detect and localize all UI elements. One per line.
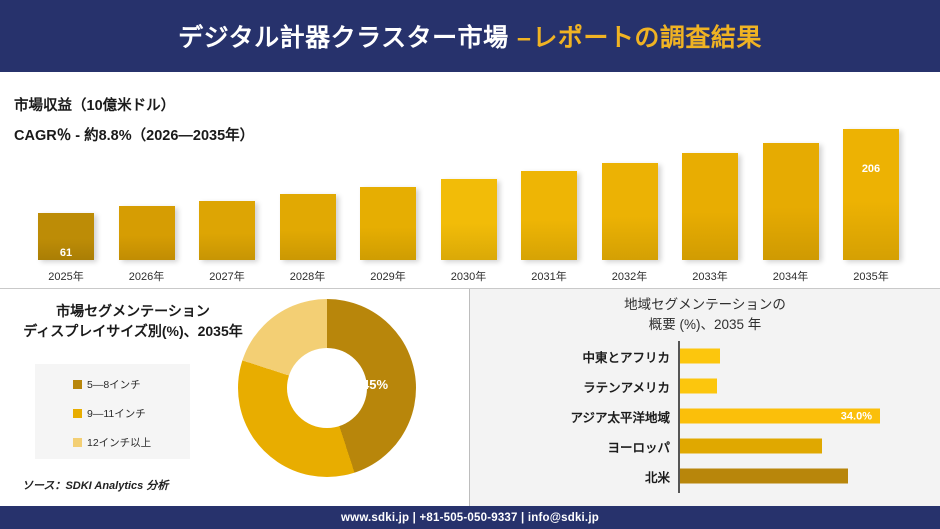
region-panel: 地域セグメンテーションの 概要 (%)、2035 年 中東とアフリカラテンアメリ… [470, 289, 940, 506]
region-bar-row: アジア太平洋地域34.0% [470, 401, 940, 431]
revenue-bars-area: 612025年2026年2027年2028年2029年2030年2031年203… [30, 100, 916, 288]
region-title: 地域セグメンテーションの 概要 (%)、2035 年 [470, 295, 940, 336]
segmentation-title: 市場セグメンテーション ディスプレイサイズ別(%)、2035年 [8, 301, 258, 342]
region-title-line2: 概要 (%)、2035 年 [470, 315, 940, 335]
page-title: デジタル計器クラスター市場 –レポートの調査結果 [178, 18, 762, 54]
segmentation-legend: 5―8インチ9―11インチ12インチ以上 [35, 364, 190, 459]
revenue-bar [280, 194, 336, 260]
revenue-bar-column: 612025年 [30, 100, 102, 288]
revenue-bar-xlabel: 2029年 [346, 268, 430, 284]
region-bar-chart: 中東とアフリカラテンアメリカアジア太平洋地域34.0%ヨーロッパ北米 [470, 341, 940, 499]
revenue-bar-column: 2033年 [674, 100, 746, 288]
region-bar-fill [680, 469, 848, 484]
legend-swatch-icon [73, 438, 82, 447]
revenue-bar [521, 171, 577, 260]
revenue-bar-xlabel: 2028年 [266, 268, 350, 284]
bottom-section: 市場セグメンテーション ディスプレイサイズ別(%)、2035年 5―8インチ9―… [0, 288, 940, 506]
revenue-bar-plot [674, 100, 746, 260]
revenue-bar-chart-panel: 市場収益（10億米ドル） CAGR％ - 約8.8%（2026―2035年） 6… [0, 72, 940, 288]
source-note: ソース：SDKI Analytics 分析 [22, 477, 168, 493]
region-bar-row: 中東とアフリカ [470, 341, 940, 371]
revenue-bar-xlabel: 2031年 [507, 268, 591, 284]
revenue-bar-column: 2062035年 [835, 100, 907, 288]
footer-contact-text: www.sdki.jp | +81-505-050-9337 | info@sd… [341, 512, 599, 524]
revenue-bar-xlabel: 2035年 [829, 268, 913, 284]
revenue-bar-column: 2030年 [433, 100, 505, 288]
region-bar-fill: 34.0% [680, 409, 880, 424]
region-bar-label: ラテンアメリカ [470, 377, 670, 396]
region-bar-track [680, 469, 848, 484]
revenue-bar: 61 [38, 213, 94, 260]
region-bar-track [680, 439, 822, 454]
revenue-bar [199, 201, 255, 260]
revenue-bar [360, 187, 416, 260]
legend-item-label: 9―11インチ [87, 406, 146, 421]
revenue-bar-plot: 61 [30, 100, 102, 260]
revenue-bar-plot [352, 100, 424, 260]
region-title-line1: 地域セグメンテーションの [470, 295, 940, 315]
region-bar-row: ヨーロッパ [470, 431, 940, 461]
revenue-bar-xlabel: 2026年 [105, 268, 189, 284]
revenue-bar [119, 206, 175, 260]
revenue-bar-column: 2027年 [191, 100, 263, 288]
legend-swatch-icon [73, 409, 82, 418]
revenue-bar: 206 [843, 129, 899, 260]
segmentation-panel: 市場セグメンテーション ディスプレイサイズ別(%)、2035年 5―8インチ9―… [0, 289, 470, 506]
revenue-bar-column: 2032年 [594, 100, 666, 288]
revenue-bar-plot [433, 100, 505, 260]
revenue-bar-value: 61 [38, 247, 94, 259]
region-bar-row: 北米 [470, 461, 940, 491]
revenue-bar-xlabel: 2033年 [668, 268, 752, 284]
revenue-bar [602, 163, 658, 260]
revenue-bar-xlabel: 2025年 [24, 268, 108, 284]
region-bar-fill [680, 379, 717, 394]
revenue-bar-column: 2031年 [513, 100, 585, 288]
revenue-bar-xlabel: 2034年 [749, 268, 833, 284]
revenue-bar-xlabel: 2027年 [185, 268, 269, 284]
legend-item: 5―8インチ [35, 370, 190, 399]
region-bar-row: ラテンアメリカ [470, 371, 940, 401]
region-bar-track [680, 379, 717, 394]
revenue-bar-plot: 206 [835, 100, 907, 260]
segmentation-title-line2: ディスプレイサイズ別(%)、2035年 [8, 321, 258, 341]
revenue-bar-plot [272, 100, 344, 260]
region-bar-track: 34.0% [680, 409, 880, 424]
segmentation-donut-chart: 45% [238, 299, 416, 477]
donut-hole [287, 348, 367, 428]
revenue-bar-plot [111, 100, 183, 260]
revenue-bar [441, 179, 497, 260]
revenue-bar [682, 153, 738, 260]
revenue-bar-column: 2026年 [111, 100, 183, 288]
region-bar-label: アジア太平洋地域 [470, 407, 670, 426]
region-bar-fill [680, 439, 822, 454]
legend-item-label: 5―8インチ [87, 377, 141, 392]
region-bar-value: 34.0% [841, 410, 872, 422]
region-bar-fill [680, 349, 720, 364]
legend-item: 12インチ以上 [35, 428, 190, 457]
page-header: デジタル計器クラスター市場 –レポートの調査結果 [0, 0, 940, 72]
page-title-accent: レポートの調査結果 [532, 24, 762, 52]
page-title-dash: – [516, 24, 532, 52]
revenue-bar-column: 2034年 [755, 100, 827, 288]
revenue-bar-plot [513, 100, 585, 260]
legend-item: 9―11インチ [35, 399, 190, 428]
donut-value-label: 45% [362, 377, 388, 392]
revenue-bar-plot [755, 100, 827, 260]
region-bar-label: 中東とアフリカ [470, 347, 670, 366]
segmentation-title-line1: 市場セグメンテーション [8, 301, 258, 321]
region-bar-track [680, 349, 720, 364]
region-bar-label: ヨーロッパ [470, 437, 670, 456]
revenue-bar [763, 143, 819, 260]
revenue-bar-plot [191, 100, 263, 260]
page-footer: www.sdki.jp | +81-505-050-9337 | info@sd… [0, 506, 940, 529]
revenue-bar-value: 206 [843, 163, 899, 175]
revenue-bar-xlabel: 2032年 [588, 268, 672, 284]
revenue-bar-column: 2029年 [352, 100, 424, 288]
page-title-main: デジタル計器クラスター市場 [178, 24, 516, 52]
revenue-bar-column: 2028年 [272, 100, 344, 288]
revenue-bar-plot [594, 100, 666, 260]
region-bar-label: 北米 [470, 467, 670, 486]
legend-swatch-icon [73, 380, 82, 389]
revenue-bar-xlabel: 2030年 [427, 268, 511, 284]
legend-item-label: 12インチ以上 [87, 435, 151, 450]
